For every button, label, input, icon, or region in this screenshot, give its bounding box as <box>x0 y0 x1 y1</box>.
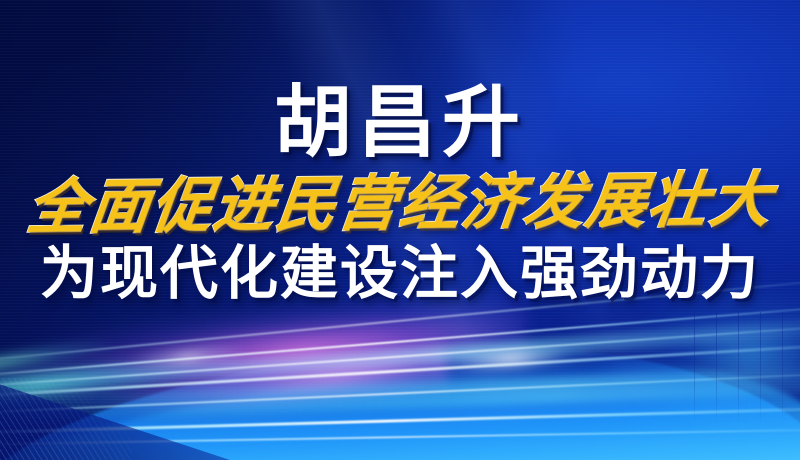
diagonal-hatch-pattern <box>0 378 132 460</box>
headline-group: 胡昌升 全面促进民营经济发展壮大 为现代化建设注入强劲动力 <box>0 84 800 302</box>
headline-gold-calligraphy: 全面促进民营经济发展壮大 <box>24 170 776 238</box>
promo-banner: 胡昌升 全面促进民营经济发展壮大 为现代化建设注入强劲动力 <box>0 0 800 460</box>
headline-name: 胡昌升 <box>274 84 526 162</box>
headline-slogan: 为现代化建设注入强劲动力 <box>40 244 760 302</box>
vertical-line-pattern <box>694 312 786 424</box>
